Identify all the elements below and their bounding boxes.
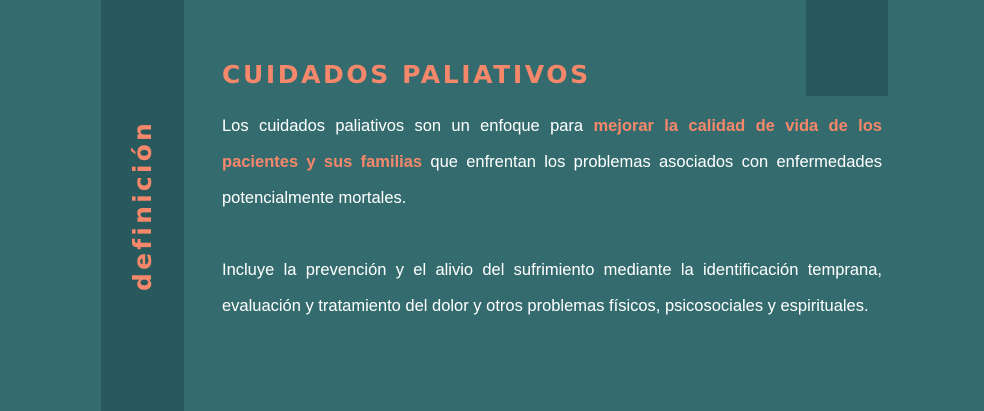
scope-paragraph-text-0: Incluye la prevención y el alivio del su…: [222, 261, 882, 315]
body-text-block: Los cuidados paliativos son un enfoque p…: [222, 108, 882, 324]
vertical-label-container: definición: [101, 0, 184, 411]
definition-paragraph: Los cuidados paliativos son un enfoque p…: [222, 108, 882, 216]
scope-paragraph: Incluye la prevención y el alivio del su…: [222, 252, 882, 324]
page-title: CUIDADOS PALIATIVOS: [222, 61, 591, 89]
definition-slide: definición CUIDADOS PALIATIVOS Los cuida…: [0, 0, 984, 411]
vertical-label-definicion: definición: [130, 120, 155, 291]
content-area: CUIDADOS PALIATIVOS Los cuidados paliati…: [222, 0, 882, 411]
definition-paragraph-text-0: Los cuidados paliativos son un enfoque p…: [222, 117, 593, 135]
